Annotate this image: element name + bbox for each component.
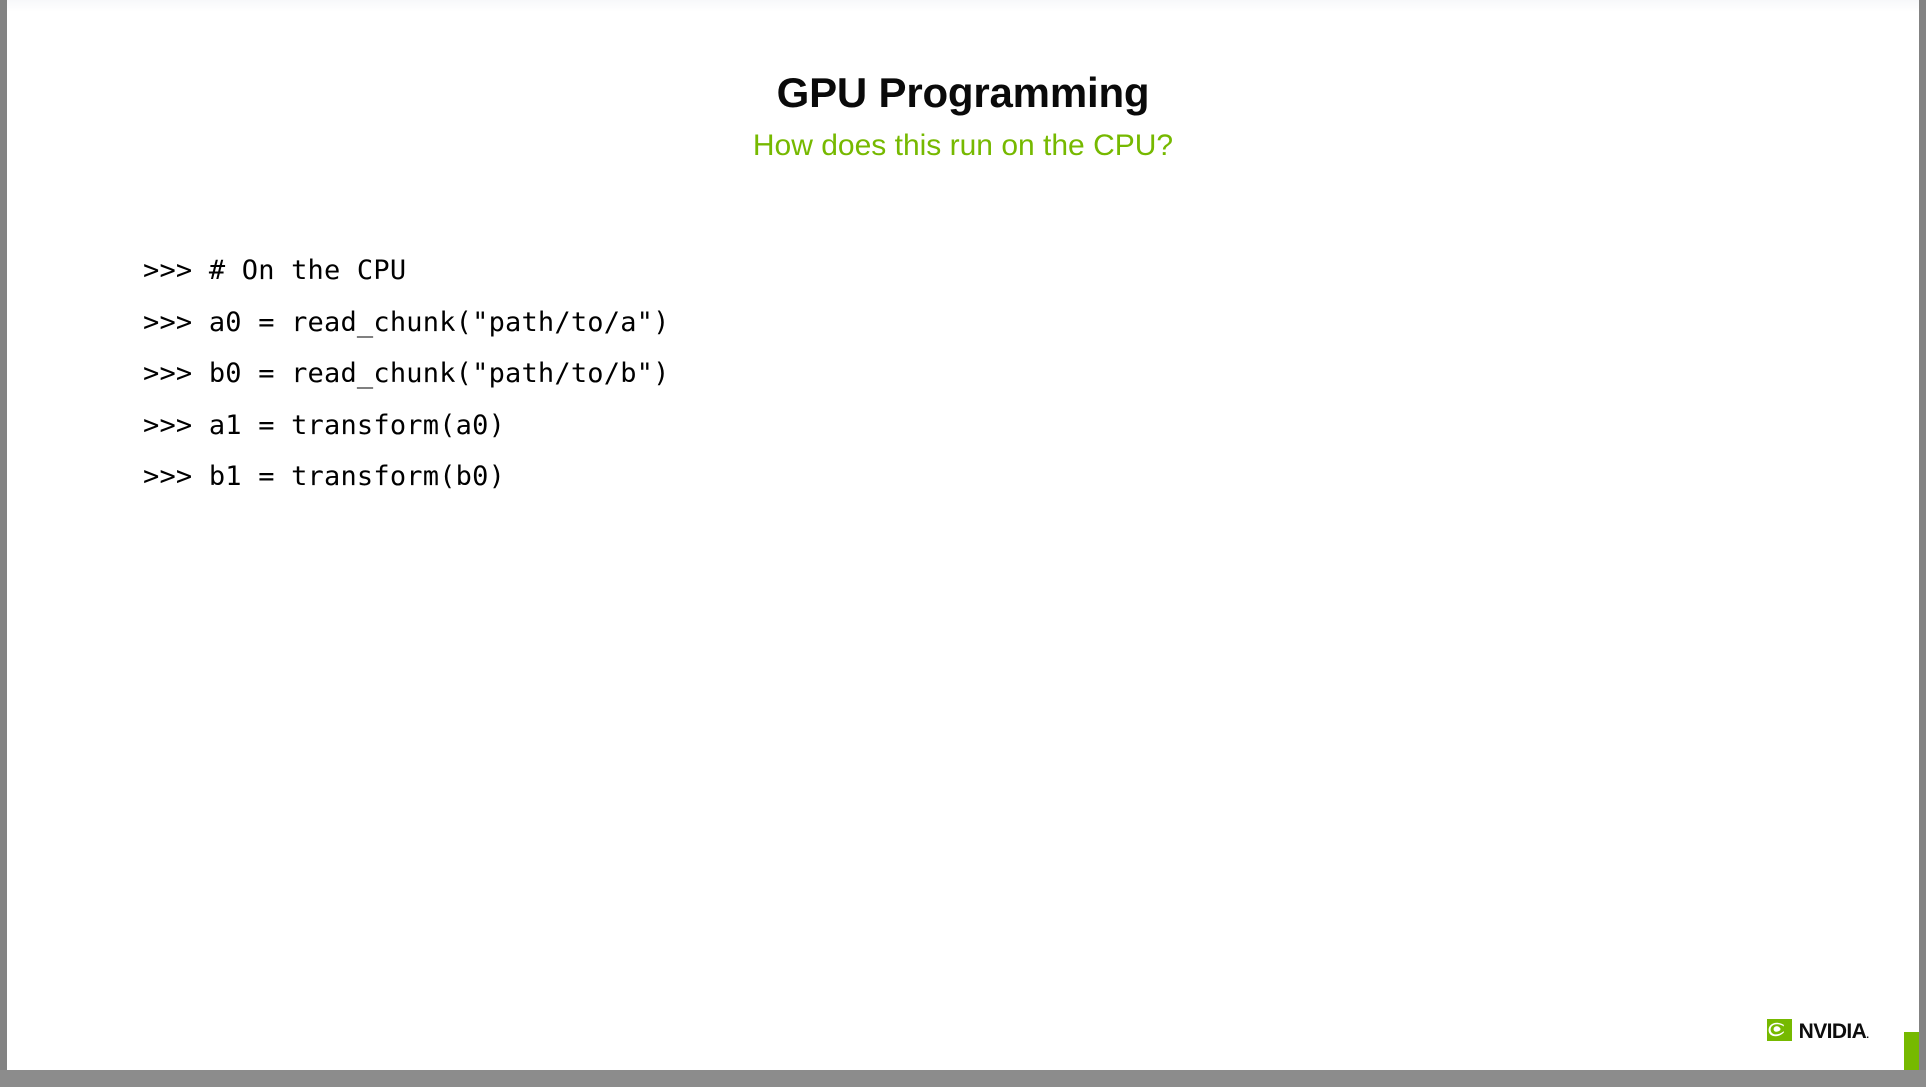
title-block: GPU Programming How does this run on the…: [7, 72, 1919, 161]
nvidia-wordmark: NVIDIA.: [1799, 1021, 1869, 1042]
code-block: >>> # On the CPU >>> a0 = read_chunk("pa…: [143, 245, 1543, 503]
nvidia-eye-icon: [1767, 1019, 1792, 1041]
code-line: >>> a0 = read_chunk("path/to/a"): [143, 297, 1543, 349]
window-frame: GPU Programming How does this run on the…: [0, 0, 1926, 1087]
code-line: >>> b1 = transform(b0): [143, 451, 1543, 503]
nvidia-trademark: .: [1866, 1030, 1869, 1041]
frame-left-border: [0, 0, 7, 1087]
frame-bottom-border: [0, 1070, 1926, 1087]
code-line: >>> # On the CPU: [143, 245, 1543, 297]
nvidia-logo: NVIDIA.: [1767, 1018, 1869, 1042]
page-title: GPU Programming: [7, 72, 1919, 114]
code-line: >>> a1 = transform(a0): [143, 400, 1543, 452]
nvidia-wordmark-text: NVIDIA: [1799, 1020, 1867, 1043]
code-line: >>> b0 = read_chunk("path/to/b"): [143, 348, 1543, 400]
slide-canvas: GPU Programming How does this run on the…: [7, 0, 1919, 1070]
page-subtitle: How does this run on the CPU?: [7, 114, 1919, 161]
slide-top-sheen: [7, 0, 1919, 12]
green-accent-bar: [1904, 1032, 1919, 1070]
frame-right-border: [1919, 0, 1926, 1087]
